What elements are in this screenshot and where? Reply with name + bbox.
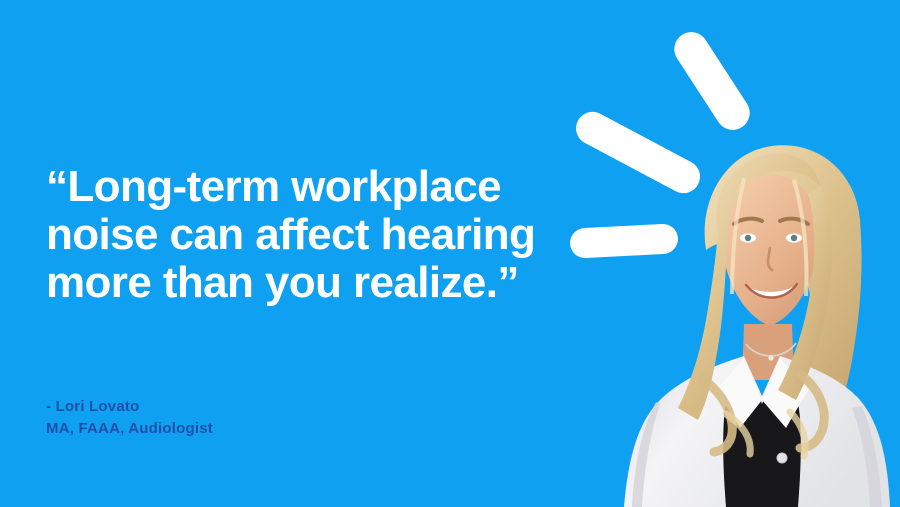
attribution: - Lori Lovato MA, FAAA, Audiologist [46,396,213,440]
iris-right [791,235,797,241]
attribution-name: - Lori Lovato [46,396,213,418]
necklace-pendant [768,355,773,360]
portrait-image [594,128,900,507]
iris-left [745,235,751,241]
coat-button [777,453,787,463]
quote-text: “Long-term workplace noise can affect he… [46,163,606,307]
attribution-credentials: MA, FAAA, Audiologist [46,418,213,440]
quote-card: “Long-term workplace noise can affect he… [0,0,900,507]
spark-bar-top-icon [668,26,756,137]
